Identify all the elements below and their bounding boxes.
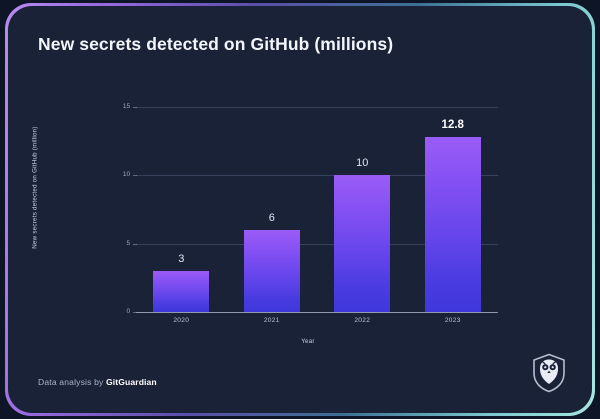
- bar-value-label: 6: [269, 212, 275, 224]
- bar-value-label: 12.8: [442, 119, 464, 131]
- gitguardian-owl-shield-icon: [531, 353, 567, 393]
- x-tick-label: 2022: [317, 317, 408, 324]
- bar[interactable]: [244, 230, 300, 312]
- y-tick-label: 10: [112, 171, 130, 178]
- y-axis-title: New secrets detected on GitHub (million): [32, 108, 39, 268]
- bar[interactable]: [153, 271, 209, 312]
- y-tick-label: 15: [112, 103, 130, 110]
- chart-plot-area: New secrets detected on GitHub (million)…: [8, 6, 592, 413]
- y-tick-label: 5: [112, 240, 130, 247]
- chart-card: New secrets detected on GitHub (millions…: [8, 6, 592, 413]
- footer-brand: GitGuardian: [106, 377, 157, 387]
- bar-series: 361012.8: [136, 107, 498, 312]
- y-tick-label: 0: [112, 308, 130, 315]
- x-tick-label: 2020: [136, 317, 227, 324]
- x-tick-label: 2021: [227, 317, 318, 324]
- x-axis-title: Year: [118, 338, 498, 345]
- footer-credit: Data analysis by GitGuardian: [38, 377, 157, 387]
- chart-card-screenshot: New secrets detected on GitHub (millions…: [0, 0, 600, 419]
- bar-slot: 10: [317, 107, 408, 312]
- bar-value-label: 3: [178, 253, 184, 265]
- bar-slot: 12.8: [408, 107, 499, 312]
- bar[interactable]: [334, 175, 390, 312]
- bar-slot: 6: [227, 107, 318, 312]
- bar-slot: 3: [136, 107, 227, 312]
- bar-value-label: 10: [356, 157, 368, 169]
- footer-prefix: Data analysis by: [38, 377, 106, 387]
- card-gradient-border: New secrets detected on GitHub (millions…: [5, 3, 595, 416]
- x-tick-label: 2023: [408, 317, 499, 324]
- bar[interactable]: [425, 137, 481, 312]
